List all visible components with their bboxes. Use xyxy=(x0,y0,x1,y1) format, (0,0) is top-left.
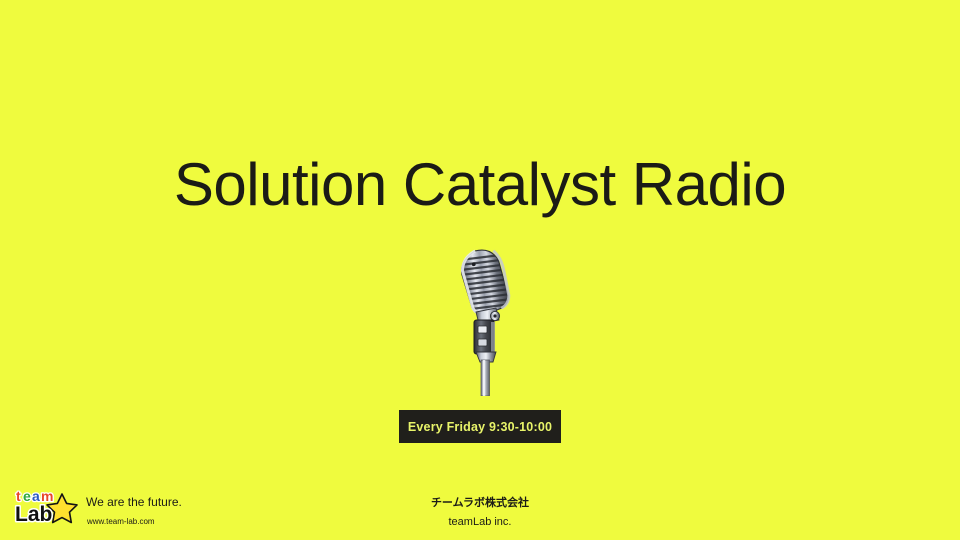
vintage-microphone-icon xyxy=(452,246,522,396)
company-name-en: teamLab inc. xyxy=(0,516,960,528)
slide-canvas: Solution Catalyst Radio xyxy=(0,0,960,540)
company-name-jp: チームラボ株式会社 xyxy=(0,494,960,510)
schedule-badge-label: Every Friday 9:30-10:00 xyxy=(408,420,552,434)
page-title: Solution Catalyst Radio xyxy=(0,148,960,222)
schedule-badge: Every Friday 9:30-10:00 xyxy=(399,410,561,443)
footer: t e a m Lab We are the future. www.team-… xyxy=(0,470,960,540)
